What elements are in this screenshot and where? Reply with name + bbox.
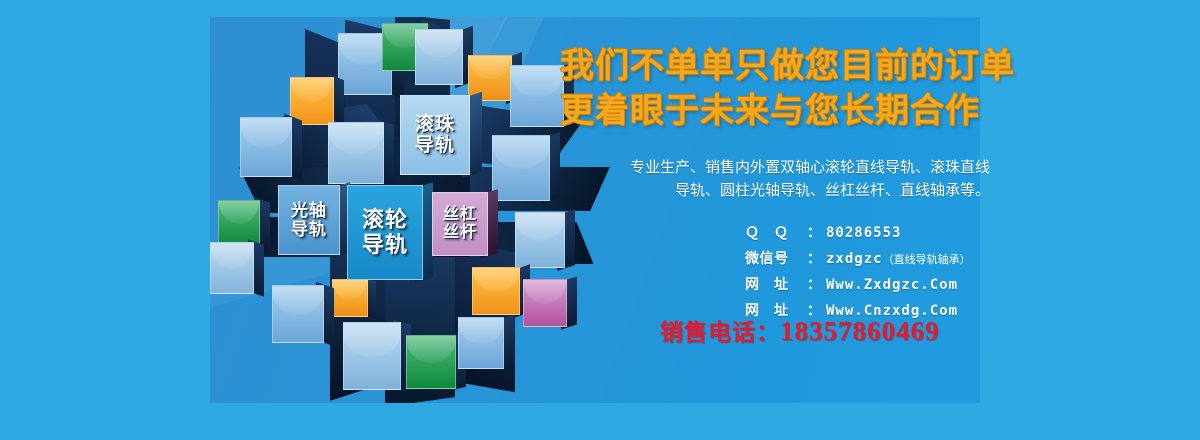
contact-label: Ｑ Ｑ <box>745 222 807 242</box>
cube-label-line2: 导轨 <box>291 220 327 239</box>
sales-phone-label: 销售电话： <box>660 319 780 345</box>
headline-line-1: 我们不单单只做您目前的订单 <box>560 44 990 89</box>
banner-image: 滚珠 导轨 光轴 导轨 滚轮 导轨 <box>0 0 1200 440</box>
contact-note-wechat: （直线导轨轴承） <box>883 251 971 267</box>
cube-label-optical-shaft-rail[interactable]: 光轴 导轨 <box>278 185 340 255</box>
contact-row-qq: Ｑ Ｑ ： 80286553 <box>745 222 1000 242</box>
cube-label-ball-rail[interactable]: 滚珠 导轨 <box>400 95 470 175</box>
decor-cube-lightblue <box>210 242 254 294</box>
contact-row-wechat: 微信号 ： zxdgzc （直线导轨轴承） <box>745 248 1000 268</box>
decor-cube-orange <box>472 267 520 315</box>
decor-cube-orange <box>332 279 368 317</box>
decor-cube-green <box>218 200 260 246</box>
cube-label-line1: 滚珠 <box>415 114 455 135</box>
contact-info-list: Ｑ Ｑ ： 80286553 微信号 ： zxdgzc （直线导轨轴承） 网 址… <box>745 222 1000 326</box>
headline-line-2: 更着眼于未来与您长期合作 <box>560 89 990 134</box>
contact-colon: ： <box>807 248 821 268</box>
cube-label-line1: 丝杠 <box>443 206 477 223</box>
cube-label-line2: 导轨 <box>362 232 408 257</box>
decor-cube-lightblue <box>328 122 384 184</box>
cube-label-line1: 光轴 <box>291 201 327 220</box>
decor-cube-lightblue <box>240 117 292 177</box>
contact-colon: ： <box>807 222 821 242</box>
decor-cube-lightblue <box>272 285 324 343</box>
sales-phone-block: 销售电话：18357860469 <box>660 313 940 347</box>
contact-label: 网 址 <box>745 274 807 294</box>
decor-cube-pink <box>523 279 567 327</box>
contact-value-wechat[interactable]: zxdgzc <box>826 251 883 267</box>
decor-cube-lightblue <box>515 212 565 268</box>
cube-label-line1: 滚轮 <box>362 207 408 232</box>
headline-block: 我们不单单只做您目前的订单 更着眼于未来与您长期合作 <box>560 44 990 134</box>
decor-cube-lightblue <box>343 322 401 390</box>
contact-row-website-1: 网 址 ： Www.Zxdgzc.Com <box>745 274 1000 294</box>
contact-label: 微信号 <box>745 248 807 268</box>
cube-label-line2: 丝杆 <box>443 224 477 241</box>
decor-cube-lightblue <box>492 135 550 201</box>
decor-cube-lightblue <box>510 65 564 127</box>
sales-phone-number[interactable]: 18357860469 <box>780 316 940 346</box>
decor-cube-lightblue <box>458 317 504 369</box>
cube-label-line2: 导轨 <box>415 135 455 156</box>
description-text: 专业生产、销售内外置双轴心滚轮直线导轨、滚珠直线导轨、圆柱光轴导轨、丝杠丝杆、直… <box>630 156 990 203</box>
decor-cube-green <box>406 335 456 389</box>
contact-value-website-1[interactable]: Www.Zxdgzc.Com <box>826 277 958 293</box>
exploding-cubes-graphic: 滚珠 导轨 光轴 导轨 滚轮 导轨 <box>210 17 610 403</box>
cube-label-roller-rail[interactable]: 滚轮 导轨 <box>347 185 423 280</box>
contact-colon: ： <box>807 274 821 294</box>
cube-label-lead-screw[interactable]: 丝杠 丝杆 <box>432 192 488 256</box>
contact-value-qq[interactable]: 80286553 <box>826 225 901 241</box>
decor-cube-lightblue <box>415 29 463 85</box>
